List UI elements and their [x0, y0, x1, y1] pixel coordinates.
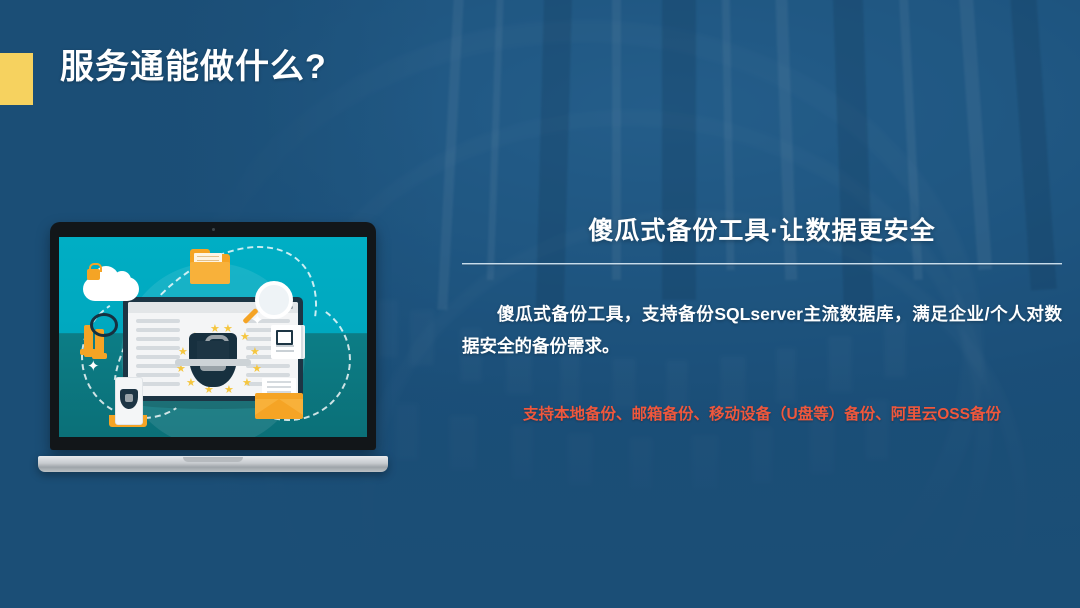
keys-icon — [78, 315, 118, 359]
backup-illustration: ★ ★ ★ ★ ★ ★ ★ ★ ★ ★ ★ ★ — [59, 237, 367, 437]
content-divider — [462, 263, 1062, 266]
monitor-foot — [175, 359, 251, 366]
laptop-screen: ★ ★ ★ ★ ★ ★ ★ ★ ★ ★ ★ ★ — [59, 237, 367, 437]
page-title: 服务通能做什么? — [60, 47, 327, 88]
cloud-lock-icon — [87, 269, 100, 280]
slide: 服务通能做什么? — [0, 0, 1080, 608]
folder-front — [190, 262, 230, 284]
envelope-flap — [255, 399, 303, 415]
laptop-lid: ★ ★ ★ ★ ★ ★ ★ ★ ★ ★ ★ ★ — [50, 222, 376, 450]
notepad-icon — [271, 325, 301, 359]
cloud-icon — [83, 277, 139, 301]
content-panel: 傻瓜式备份工具·让数据更安全 傻瓜式备份工具，支持备份SQLserver主流数据… — [462, 215, 1062, 427]
content-headline: 傻瓜式备份工具·让数据更安全 — [462, 215, 1062, 249]
title-accent-block — [0, 53, 33, 105]
content-highlight: 支持本地备份、邮箱备份、移动设备（U盘等）备份、阿里云OSS备份 — [462, 403, 1062, 428]
star-icon: ★ — [250, 347, 260, 358]
sparkle-icon: ✦ — [87, 359, 100, 374]
phone-shield-icon — [115, 377, 143, 425]
key-ring-icon — [90, 313, 118, 337]
content-body: 傻瓜式备份工具，支持备份SQLserver主流数据库，满足企业/个人对数据安全的… — [462, 298, 1062, 363]
star-icon: ★ — [178, 347, 188, 358]
envelope-icon — [255, 389, 303, 419]
folder-icon — [190, 254, 230, 284]
laptop-notch — [183, 457, 243, 462]
star-icon: ★ — [242, 378, 252, 389]
star-icon: ★ — [224, 385, 234, 396]
star-icon: ★ — [186, 378, 196, 389]
phone-shield-glyph — [120, 389, 138, 409]
laptop-illustration: ★ ★ ★ ★ ★ ★ ★ ★ ★ ★ ★ ★ — [38, 222, 388, 472]
monitor-stand — [197, 341, 229, 359]
sparkle-icon: ✦ — [251, 313, 264, 328]
star-icon: ★ — [252, 364, 262, 375]
star-icon: ★ — [240, 332, 250, 343]
laptop-base — [38, 456, 388, 472]
